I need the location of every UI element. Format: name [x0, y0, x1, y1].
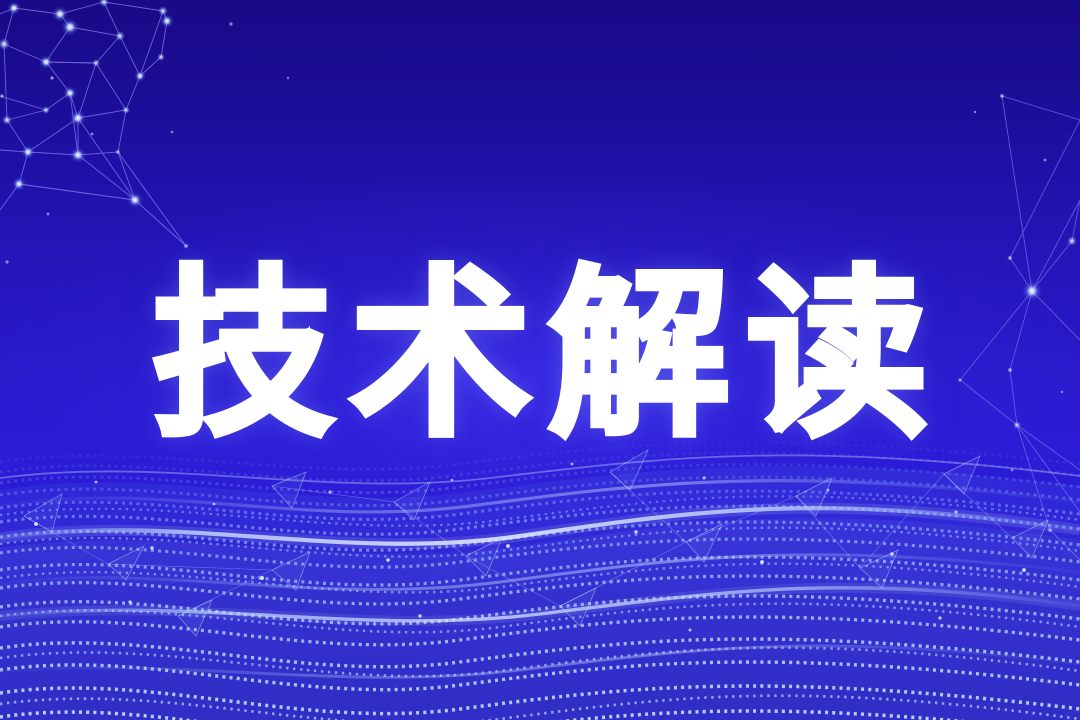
page-title: 技术解读: [136, 264, 944, 446]
wave-haze: [0, 466, 1080, 720]
tech-banner: 技术解读: [0, 0, 1080, 720]
particle-wave: [0, 420, 1080, 720]
headline-container: 技术解读: [0, 250, 1080, 460]
